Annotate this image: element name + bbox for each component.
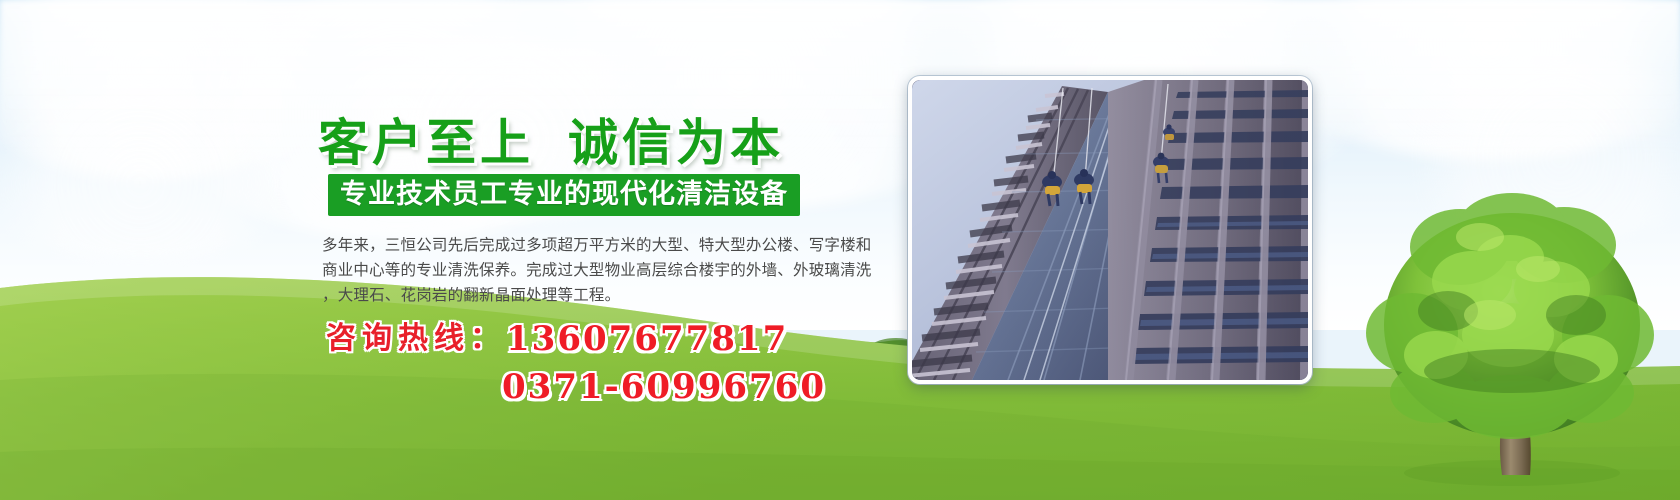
page-title: 客户至上诚信为本	[318, 103, 784, 175]
tree-illustration	[1340, 185, 1680, 500]
subtitle-band: 专业技术员工专业的现代化清洁设备	[328, 174, 800, 216]
cloud-band	[0, 0, 1680, 150]
promo-banner: 客户至上诚信为本 专业技术员工专业的现代化清洁设备 多年来，三恒公司先后完成过多…	[0, 0, 1680, 500]
headline-part-2: 诚信为本	[568, 113, 784, 172]
headline-part-1: 客户至上	[318, 113, 534, 172]
hotline-mobile-number[interactable]: 13607677817	[506, 319, 788, 359]
hotline-label: 咨询热线：	[326, 321, 506, 356]
description-paragraph: 多年来，三恒公司先后完成过多项超万平方米的大型、特大型办公楼、写字楼和 商业中心…	[322, 233, 888, 308]
hotline-landline-number[interactable]: 0371-60996760	[502, 367, 826, 407]
description-line: 多年来，三恒公司先后完成过多项超万平方米的大型、特大型办公楼、写字楼和	[322, 233, 888, 258]
description-line: 商业中心等的专业清洗保养。完成过大型物业高层综合楼宇的外墙、外玻璃清洗	[322, 258, 888, 283]
hotline-secondary: 0371-60996760	[326, 370, 826, 404]
description-line: ，大理石、花岗岩的翻新晶面处理等工程。	[322, 283, 888, 308]
building-photo	[908, 76, 1312, 384]
hotline-primary: 咨询热线：13607677817	[326, 322, 826, 356]
subtitle-text: 专业技术员工专业的现代化清洁设备	[340, 181, 788, 208]
hotline-block: 咨询热线：13607677817 0371-60996760	[326, 322, 826, 404]
